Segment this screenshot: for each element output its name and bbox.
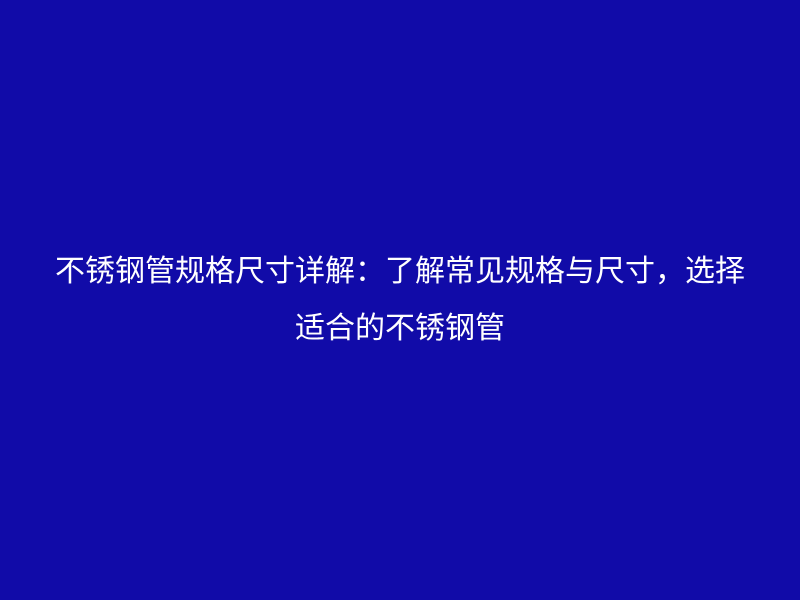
headline-block: 不锈钢管规格尺寸详解：了解常见规格与尺寸，选择适合的不锈钢管 <box>55 243 745 357</box>
page-title: 不锈钢管规格尺寸详解：了解常见规格与尺寸，选择适合的不锈钢管 <box>55 243 745 357</box>
title-banner: 不锈钢管规格尺寸详解：了解常见规格与尺寸，选择适合的不锈钢管 <box>0 0 800 600</box>
